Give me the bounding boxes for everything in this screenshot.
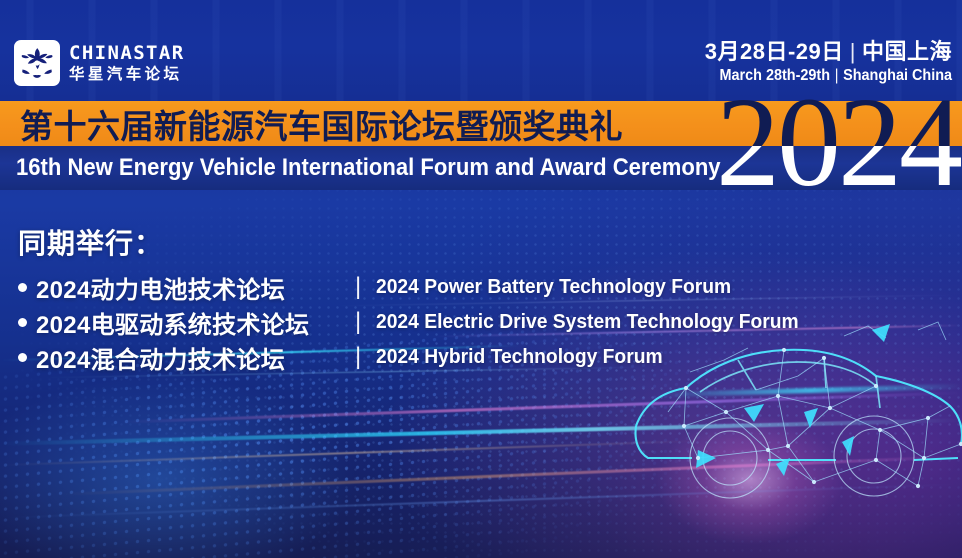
event-name-cn: 2024电驱动系统技术论坛 bbox=[36, 305, 309, 340]
date-location-cn: 3月28日-29日|中国上海 bbox=[702, 40, 952, 64]
side-events-block: 同期举行： 2024动力电池技术论坛 | 2024 Power Battery … bbox=[18, 222, 309, 377]
date-location-block: 3月28日-29日|中国上海 March 28th-29th|Shanghai … bbox=[702, 40, 952, 86]
event-name-en: 2024 Hybrid Technology Forum bbox=[376, 345, 663, 369]
date-location-en: March 28th-29th|Shanghai China bbox=[719, 67, 952, 86]
wireframe-car-icon bbox=[628, 300, 962, 550]
list-item: 2024电驱动系统技术论坛 | 2024 Electric Drive Syst… bbox=[18, 307, 309, 337]
date-cn-text: 3月28日-29日 bbox=[705, 39, 844, 64]
brand-logo-text: CHINASTAR 华星汽车论坛 bbox=[69, 44, 185, 83]
location-cn-text: 中国上海 bbox=[862, 39, 952, 64]
event-title-en: 16th New Energy Vehicle International Fo… bbox=[16, 148, 721, 188]
bullet-icon bbox=[18, 318, 27, 327]
event-separator: | bbox=[355, 343, 361, 371]
event-separator: | bbox=[355, 273, 361, 301]
brand-logo[interactable]: CHINASTAR 华星汽车论坛 bbox=[14, 40, 185, 86]
brand-name-cn: 华星汽车论坛 bbox=[69, 67, 185, 83]
event-name-en: 2024 Power Battery Technology Forum bbox=[376, 275, 731, 299]
brand-name-en: CHINASTAR bbox=[69, 44, 185, 63]
poster-banner: CHINASTAR 华星汽车论坛 3月28日-29日|中国上海 March 28… bbox=[0, 0, 962, 558]
event-name-en: 2024 Electric Drive System Technology Fo… bbox=[376, 310, 799, 334]
bullet-icon bbox=[18, 283, 27, 292]
event-name-cn: 2024动力电池技术论坛 bbox=[36, 270, 285, 305]
date-cn-separator: | bbox=[850, 39, 856, 64]
date-en-separator: | bbox=[835, 67, 839, 84]
location-en-text: Shanghai China bbox=[843, 67, 952, 84]
side-events-heading: 同期举行： bbox=[18, 222, 309, 262]
date-en-text: March 28th-29th bbox=[719, 67, 830, 84]
list-item: 2024混合动力技术论坛 | 2024 Hybrid Technology Fo… bbox=[18, 342, 309, 372]
event-name-cn: 2024混合动力技术论坛 bbox=[36, 340, 285, 375]
chinastar-emblem-icon bbox=[14, 40, 60, 86]
list-item: 2024动力电池技术论坛 | 2024 Power Battery Techno… bbox=[18, 272, 309, 302]
event-separator: | bbox=[355, 308, 361, 336]
event-title-cn: 第十六届新能源汽车国际论坛暨颁奖典礼 bbox=[20, 103, 623, 145]
bullet-icon bbox=[18, 353, 27, 362]
